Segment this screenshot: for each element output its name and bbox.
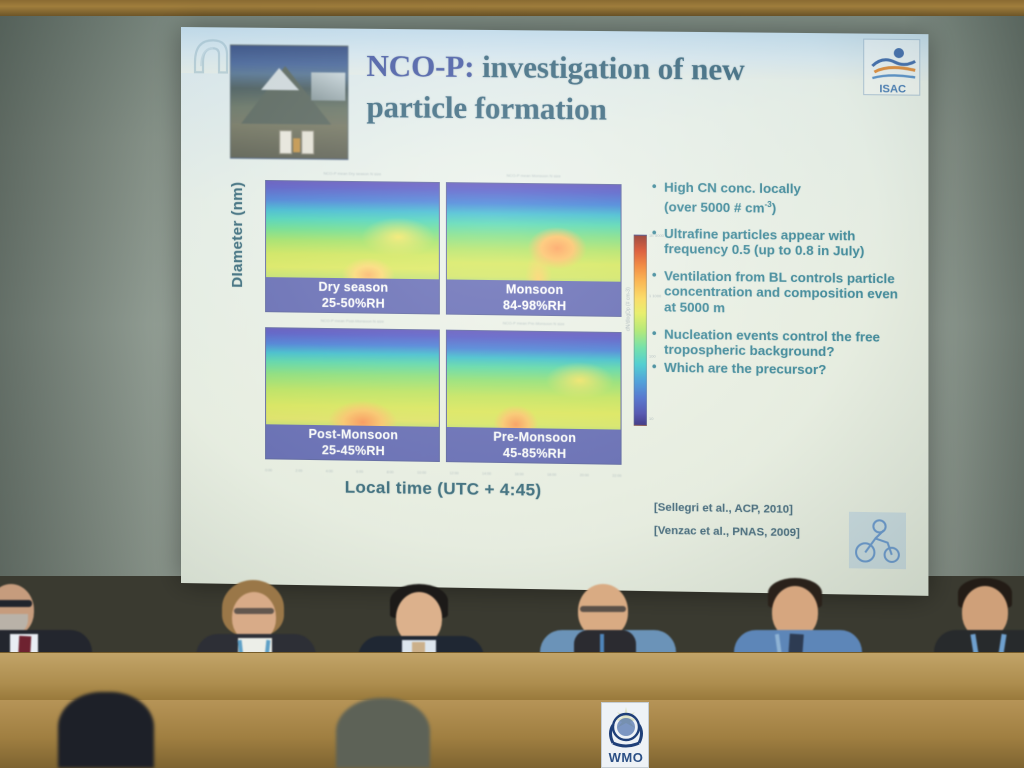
heatmap-panel-monsoon: NCO-P mean Monsoon N size Monsoon 84-98%… [446, 182, 622, 326]
bullet-list: High CN conc. locally (over 5000 # cm-3)… [650, 179, 909, 389]
colorbar-tick: 10 [649, 416, 654, 421]
bullet-text-tail: ) [772, 200, 776, 215]
cyclist-logo-icon [849, 512, 906, 569]
bullet-text: High CN conc. locally [664, 180, 801, 197]
bullet-text-cont: (over 5000 # cm [664, 199, 764, 215]
eyeglasses [234, 608, 274, 614]
bullet-item-ventilation: Ventilation from BL controls particle co… [650, 268, 909, 319]
projected-slide: ISAC NCO-P: investigation of new particl… [181, 27, 928, 596]
colorbar-label: dN/dlogDp (# cm-3) [626, 287, 632, 331]
slide-title-lead: NCO-P: [366, 48, 474, 84]
wall-shadow-left [0, 16, 190, 576]
heatmap-panel-pre-monsoon: NCO-P mean Pre-Monsoon N size Pre-Monsoo… [446, 330, 622, 474]
heatmap-panel-dry-season: NCO-P mean Dry season N size Dry season … [265, 180, 440, 324]
y-axis-label: DIameter (nm) [229, 181, 246, 287]
eyeglasses [580, 606, 626, 612]
panel-desk [0, 652, 1024, 704]
slide-title: NCO-P: investigation of new particle for… [366, 45, 852, 133]
figure-container: DIameter (nm) NCO-P mean Dry season N si… [221, 175, 644, 522]
heatmap-panel-grid: NCO-P mean Dry season N size Dry season … [265, 180, 621, 474]
station-photo [230, 44, 348, 159]
panel-label-line2: 84-98%RH [447, 297, 622, 315]
heatmap-image [265, 180, 440, 290]
wmo-logo-icon [602, 703, 650, 755]
panel-label: Post-Monsoon 25-45%RH [266, 424, 440, 461]
colorbar [634, 235, 647, 426]
bullet-item-precursor: Which are the precursor? [650, 359, 909, 378]
panel-label: Pre-Monsoon 45-85%RH [447, 427, 622, 464]
wall-trim-top [0, 0, 1024, 16]
panel-label: Dry season 25-50%RH [266, 277, 440, 313]
heatmap-row-bottom: NCO-P mean Post-Monsoon N size Post-Mons… [265, 327, 621, 474]
bullet-item-high-cn: High CN conc. locally (over 5000 # cm-3) [650, 179, 909, 217]
panel-label-line2: 45-85%RH [447, 444, 622, 463]
panel-label-line2: 25-45%RH [266, 441, 440, 460]
bullet-item-ultrafine: Ultrafine particles appear with frequenc… [650, 225, 909, 260]
heatmap-image [265, 327, 440, 437]
cnr-logo-icon [189, 32, 233, 78]
panel-label-line2: 25-50%RH [266, 294, 440, 312]
svg-text:ISAC: ISAC [879, 83, 906, 95]
audience-head-left [58, 692, 154, 768]
panel-label: Monsoon 84-98%RH [447, 279, 622, 315]
heatmap-panel-post-monsoon: NCO-P mean Post-Monsoon N size Post-Mons… [265, 327, 440, 471]
wmo-sign: WMO [601, 702, 649, 768]
heatmap-row-top: NCO-P mean Dry season N size Dry season … [265, 180, 621, 326]
eyeglasses [0, 600, 32, 607]
heatmap-image [446, 182, 622, 292]
isac-logo-icon: ISAC [863, 39, 920, 96]
heatmap-image [446, 330, 622, 440]
conference-room-scene: ISAC NCO-P: investigation of new particl… [0, 0, 1024, 768]
wmo-sign-label: WMO [602, 750, 650, 765]
bullet-item-nucleation: Nucleation events control the free tropo… [650, 326, 909, 361]
audience-head-center [336, 698, 430, 768]
x-axis-label: Local time (UTC + 4:45) [265, 476, 621, 502]
